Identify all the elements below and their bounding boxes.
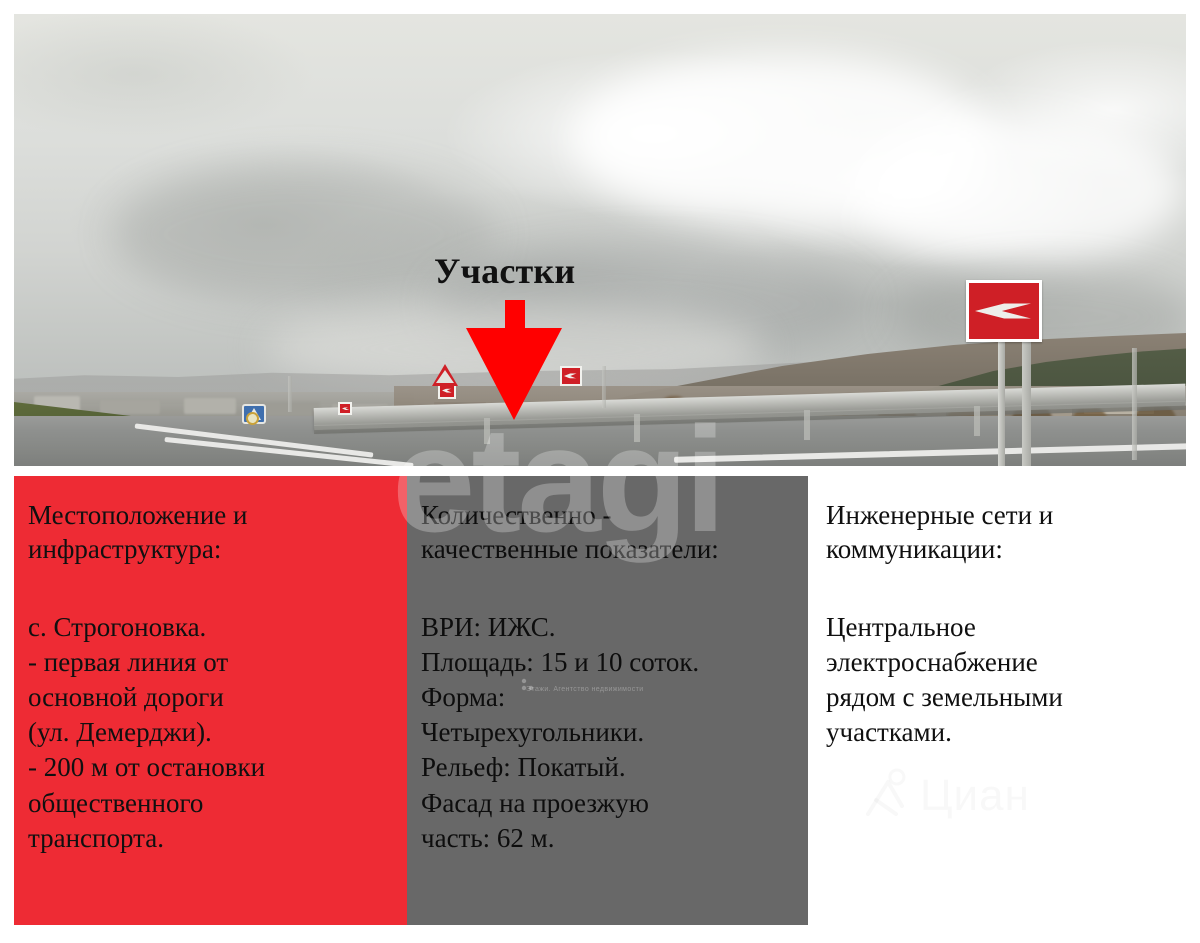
panel-location: Местоположение и инфраструктура: с. Стро… — [14, 476, 407, 925]
body-line: - первая линия от — [28, 645, 389, 680]
chevron-road-sign-small — [338, 402, 352, 415]
building-blob — [184, 398, 236, 414]
heading-line: коммуникации: — [826, 532, 1168, 566]
panel-location-body: с. Строгоновка. - первая линия от основн… — [28, 610, 389, 856]
heading-line: Местоположение и — [28, 498, 389, 532]
body-line: с. Строгоновка. — [28, 610, 389, 645]
panel-utilities-heading: Инженерные сети и коммуникации: — [826, 498, 1168, 566]
body-line: - 200 м от остановки — [28, 750, 389, 785]
utility-pole — [288, 376, 292, 412]
body-line: Площадь: 15 и 10 соток. — [421, 645, 790, 680]
annotation-label: Участки — [434, 250, 575, 292]
panel-metrics: Количественно - качественные показатели:… — [407, 476, 808, 925]
cloud-shape — [854, 114, 1184, 264]
heading-line: качественные показатели: — [421, 532, 790, 566]
body-line: Центральное — [826, 610, 1168, 645]
listing-infographic-page: Участки Местоположение и инфраструктура:… — [0, 0, 1200, 943]
panel-utilities: Инженерные сети и коммуникации: Централь… — [808, 476, 1186, 925]
body-line: Четырехугольники. — [421, 715, 790, 750]
warning-triangle-sign — [432, 364, 458, 386]
heading-line: инфраструктура: — [28, 532, 389, 566]
body-line: (ул. Демерджи). — [28, 715, 389, 750]
heading-line: Количественно - — [421, 498, 790, 532]
body-line: Форма: — [421, 680, 790, 715]
guardrail-post — [484, 418, 490, 444]
guardrail-post — [634, 414, 640, 442]
chevron-sign-face — [969, 283, 1039, 339]
guardrail-post — [804, 410, 810, 440]
sign-post — [998, 336, 1005, 466]
utility-pole — [1022, 332, 1031, 466]
panel-metrics-heading: Количественно - качественные показатели: — [421, 498, 790, 566]
roadside-landscape-photo: Участки — [14, 14, 1186, 466]
body-line: Рельеф: Покатый. — [421, 750, 790, 785]
utility-pole — [602, 366, 606, 408]
body-line: участками. — [826, 715, 1168, 750]
panel-metrics-body: ВРИ: ИЖС. Площадь: 15 и 10 соток. Форма:… — [421, 610, 790, 856]
body-line: общественного — [28, 786, 389, 821]
guardrail-post — [974, 406, 980, 436]
body-line: транспорта. — [28, 821, 389, 856]
panel-location-heading: Местоположение и инфраструктура: — [28, 498, 389, 566]
speed-limit-sign — [246, 412, 259, 425]
body-line: рядом с земельными — [826, 680, 1168, 715]
heading-line: Инженерные сети и — [826, 498, 1168, 532]
chevron-road-sign-small — [560, 366, 582, 386]
utility-pole — [1132, 348, 1137, 460]
body-line: Фасад на проезжую — [421, 786, 790, 821]
body-line: ВРИ: ИЖС. — [421, 610, 790, 645]
arrow-down-icon — [466, 300, 562, 420]
chevron-road-sign — [966, 280, 1042, 342]
body-line: часть: 62 м. — [421, 821, 790, 856]
body-line: основной дороги — [28, 680, 389, 715]
body-line: электроснабжение — [826, 645, 1168, 680]
info-panels: Местоположение и инфраструктура: с. Стро… — [14, 476, 1186, 925]
panel-utilities-body: Центральное электроснабжение рядом с зем… — [826, 610, 1168, 750]
building-blob — [100, 400, 160, 414]
